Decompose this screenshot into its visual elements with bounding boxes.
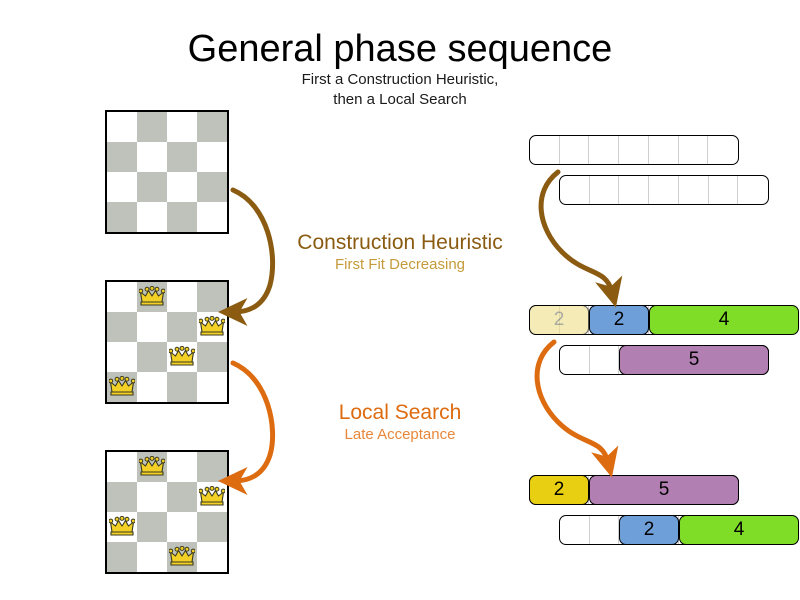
chessboard-after-construction-heuristic (105, 280, 229, 404)
bin-cell (590, 346, 620, 374)
chessboard-initial (105, 110, 229, 234)
chess-square (137, 142, 167, 172)
queen-icon (199, 316, 225, 338)
queen-piece (139, 286, 165, 308)
bin-cell (590, 516, 620, 544)
bin-item-label: 5 (689, 349, 700, 371)
chess-square (107, 142, 137, 172)
bin-item-2[interactable]: 2 (589, 305, 649, 335)
bin-cell (560, 346, 590, 374)
chess-square (137, 312, 167, 342)
chessboard-after-local-search (105, 450, 229, 574)
queen-icon (169, 346, 195, 368)
bin-cell (709, 176, 739, 204)
chess-square (107, 112, 137, 142)
bin-cell (560, 516, 590, 544)
chess-square (107, 372, 137, 402)
chess-square (107, 282, 137, 312)
chess-square (167, 342, 197, 372)
chess-square (167, 202, 197, 232)
chess-square (167, 542, 197, 572)
phase-name-construction-heuristic: Construction Heuristic (250, 230, 550, 255)
bin-cell (649, 176, 679, 204)
phase-label-local-search: Local Search Late Acceptance (250, 400, 550, 445)
chess-square (167, 452, 197, 482)
bin-cell (708, 136, 738, 164)
chess-square (137, 202, 167, 232)
queen-piece (109, 376, 135, 398)
page-title: General phase sequence (0, 28, 800, 71)
queen-icon (109, 376, 135, 398)
chess-square (137, 452, 167, 482)
bin-item-label: 5 (659, 479, 670, 501)
chess-square (137, 112, 167, 142)
chess-square (137, 282, 167, 312)
chess-square (137, 372, 167, 402)
bin-initial-bin-2 (559, 175, 769, 205)
chess-square (167, 282, 197, 312)
phase-name-local-search: Local Search (250, 400, 550, 425)
queen-piece (169, 546, 195, 568)
chess-square (167, 142, 197, 172)
chess-square (137, 172, 167, 202)
queen-piece (199, 316, 225, 338)
queen-icon (139, 286, 165, 308)
chess-square (107, 342, 137, 372)
chess-square (107, 312, 137, 342)
chess-square (167, 112, 197, 142)
queen-piece (199, 486, 225, 508)
bin-initial-bin-1 (529, 135, 739, 165)
queen-icon (199, 486, 225, 508)
chess-square (107, 512, 137, 542)
bin-cell (649, 136, 679, 164)
bin-item-2[interactable]: 2 (529, 475, 589, 505)
chess-square (197, 202, 227, 232)
bin-cell (560, 136, 590, 164)
subtitle-line-1: First a Construction Heuristic, (0, 70, 800, 90)
chess-square (197, 312, 227, 342)
bin-item-4[interactable]: 4 (649, 305, 799, 335)
chess-square (107, 202, 137, 232)
bin-cell (619, 176, 649, 204)
bin-item-label: 2 (554, 479, 565, 501)
chess-square (197, 342, 227, 372)
bin-item-2[interactable]: 2 (529, 305, 589, 335)
chess-square (107, 482, 137, 512)
phase-algorithm-first-fit-decreasing: First Fit Decreasing (250, 255, 550, 275)
chess-square (107, 542, 137, 572)
phase-label-construction-heuristic: Construction Heuristic First Fit Decreas… (250, 230, 550, 275)
chess-square (197, 482, 227, 512)
bin-item-label: 4 (734, 519, 745, 541)
queen-piece (169, 346, 195, 368)
bin-item-2[interactable]: 2 (619, 515, 679, 545)
chess-square (197, 112, 227, 142)
bin-item-label: 4 (719, 309, 730, 331)
diagram-canvas: General phase sequence First a Construct… (0, 0, 800, 600)
chess-square (197, 282, 227, 312)
bin-item-4[interactable]: 4 (679, 515, 799, 545)
queen-piece (139, 456, 165, 478)
bin-item-label: 2 (644, 519, 655, 541)
bin-cell (560, 176, 590, 204)
chess-square (197, 512, 227, 542)
bin-cell (590, 176, 620, 204)
bin-cell (679, 136, 709, 164)
chess-square (197, 172, 227, 202)
bin-cell (619, 136, 649, 164)
chess-square (167, 172, 197, 202)
queen-icon (139, 456, 165, 478)
chess-square (167, 512, 197, 542)
bin-cell (530, 136, 560, 164)
bin-item-label: 2 (614, 309, 625, 331)
subtitle-line-2: then a Local Search (0, 90, 800, 110)
chess-square (107, 452, 137, 482)
queen-piece (109, 516, 135, 538)
chess-square (137, 342, 167, 372)
phase-algorithm-late-acceptance: Late Acceptance (250, 425, 550, 445)
bin-item-5[interactable]: 5 (619, 345, 769, 375)
chess-square (137, 482, 167, 512)
chess-square (107, 172, 137, 202)
page-subtitle: First a Construction Heuristic, then a L… (0, 70, 800, 110)
chess-square (167, 482, 197, 512)
chess-square (167, 312, 197, 342)
bin-item-label: 2 (554, 309, 565, 331)
chess-square (197, 542, 227, 572)
bin-cell (679, 176, 709, 204)
chess-square (197, 142, 227, 172)
queen-icon (109, 516, 135, 538)
chess-square (167, 372, 197, 402)
chess-square (137, 512, 167, 542)
chess-square (137, 542, 167, 572)
bin-cell (738, 176, 768, 204)
chess-square (197, 372, 227, 402)
queen-icon (169, 546, 195, 568)
bin-cell (589, 136, 619, 164)
bin-item-5[interactable]: 5 (589, 475, 739, 505)
chess-square (197, 452, 227, 482)
